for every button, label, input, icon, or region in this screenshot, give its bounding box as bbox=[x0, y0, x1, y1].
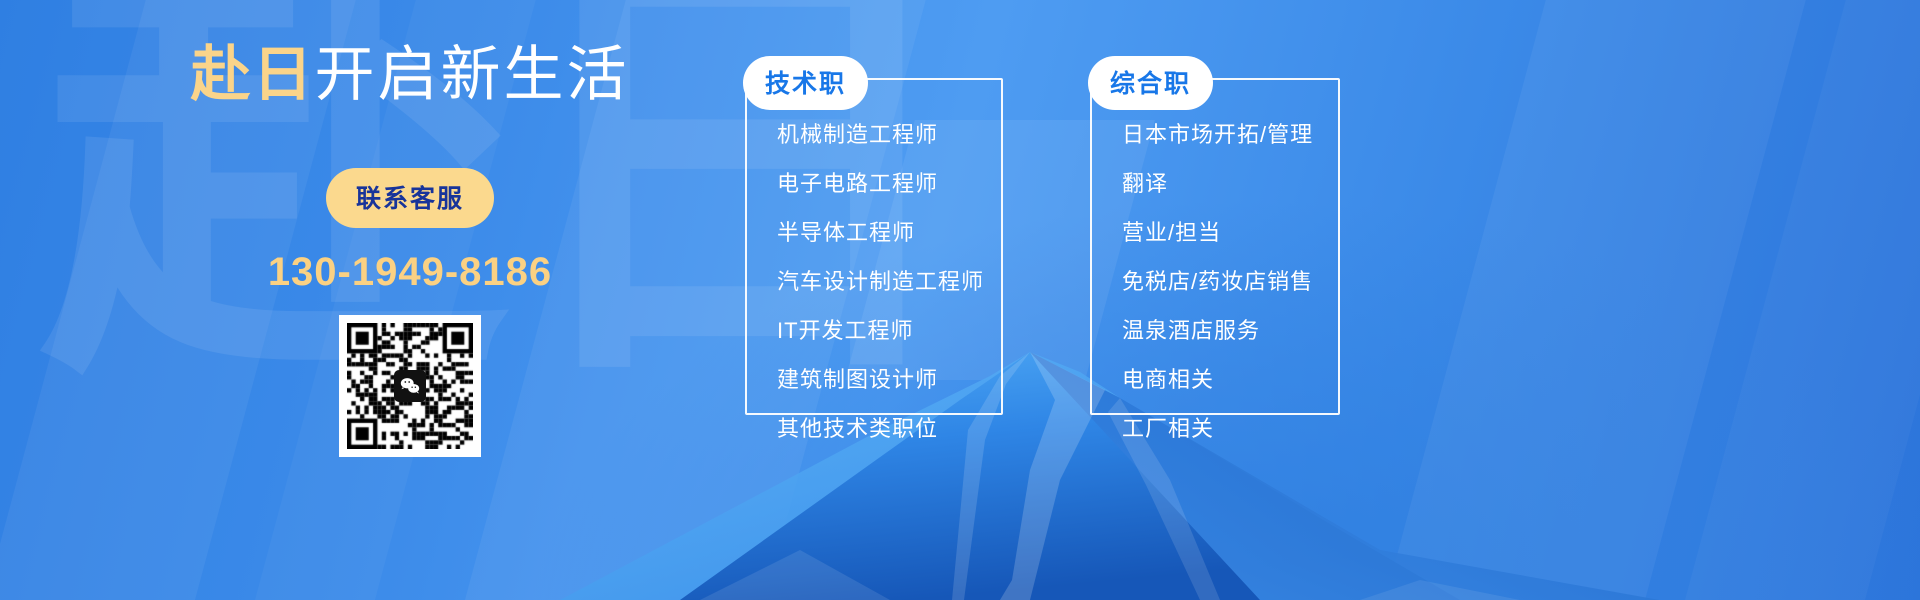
panel-frame bbox=[1090, 78, 1340, 415]
list-item[interactable]: 工厂相关 bbox=[1122, 418, 1340, 440]
panel-frame bbox=[745, 78, 1003, 415]
panel-badge-technical: 技术职 bbox=[743, 56, 868, 110]
page-title: 赴日开启新生活 bbox=[191, 42, 630, 108]
headline-accent: 赴日 bbox=[191, 41, 315, 108]
panel-badge-general: 综合职 bbox=[1088, 56, 1213, 110]
wechat-icon bbox=[394, 370, 426, 402]
phone-number: 130-1949-8186 bbox=[268, 250, 552, 295]
contact-support-button[interactable]: 联系客服 bbox=[326, 168, 494, 228]
job-panel-technical: 技术职 机械制造工程师 电子电路工程师 半导体工程师 汽车设计制造工程师 IT开… bbox=[745, 78, 1003, 415]
list-item[interactable]: 其他技术类职位 bbox=[777, 418, 1003, 440]
banner-stage: 赴日 赴日开启新生活 bbox=[0, 0, 1920, 600]
headline-rest: 开启新生活 bbox=[315, 41, 630, 108]
wechat-qr-code[interactable] bbox=[339, 315, 481, 457]
hero-left-column: 赴日开启新生活 联系客服 130-1949-8186 bbox=[150, 0, 670, 600]
job-panel-general: 综合职 日本市场开拓/管理 翻译 营业/担当 免税店/药妆店销售 温泉酒店服务 … bbox=[1090, 78, 1340, 415]
